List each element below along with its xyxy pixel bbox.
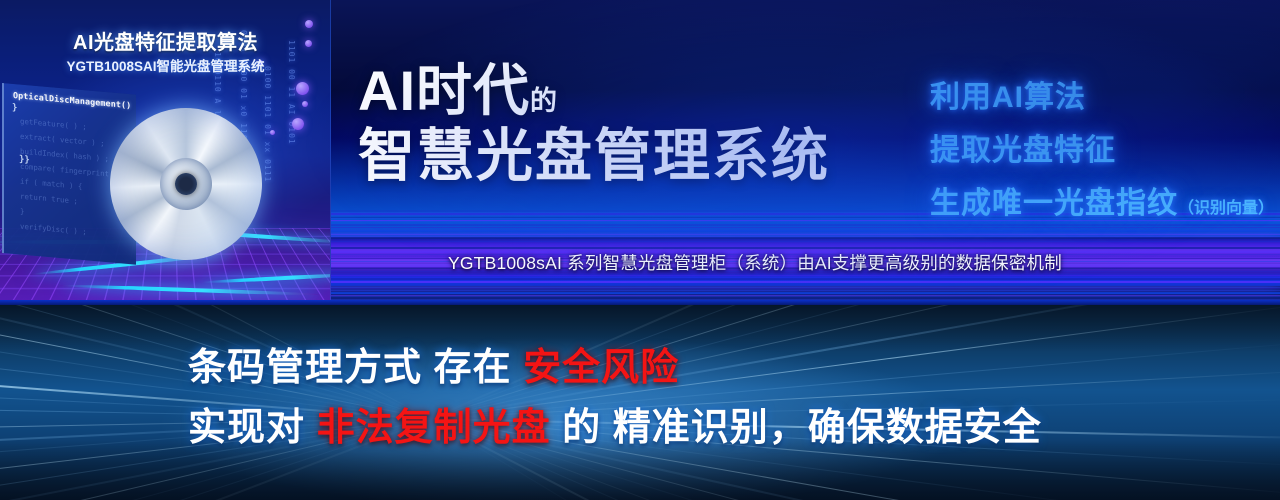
feature-item-3-tag: （识别向量） [1178,200,1274,217]
headline-line-1-suffix: 的 [530,86,557,116]
code-dim-line: verifyDisc( ) ; [20,222,87,237]
code-dim-line: buildIndex( hash ) ; [20,147,109,164]
feature-item-2-text: 提取光盘特征 [930,134,1116,167]
panel-subtitle: YGTB1008SAI智能光盘管理系统 [0,55,331,75]
main-headline: AI时代的 智慧光盘管理系统 [358,62,918,185]
code-dim-line: getFeature( ) ; [20,117,87,132]
product-image-panel: 1010110 A loi01l 1100xx0101 1100 01 x0 1… [0,0,331,300]
code-brace-1: } [12,103,17,113]
bottom-line-2-suffix: 的 精准识别，确保数据安全 [551,407,1042,449]
code-window-label: OpticalDiscManagement() [13,90,131,110]
headline-line-1-main: AI时代 [358,59,530,122]
bottom-line-2-prefix: 实现对 [188,407,317,449]
glow-dot [270,130,275,135]
feature-item-1: 利用AI算法 [930,72,1280,116]
bottom-line-1-highlight: 安全风险 [523,347,679,389]
headline-line-1: AI时代的 [358,62,918,119]
feature-item-3-text: 生成唯一光盘指纹 [930,187,1178,220]
glow-dot [292,118,304,130]
bottom-line-2: 实现对 非法复制光盘 的 精准识别，确保数据安全 [188,396,1042,451]
code-dim-line: return true ; [20,192,78,206]
bottom-line-1: 条码管理方式 存在 安全风险 [188,336,679,391]
code-dim-line: } [20,207,24,216]
bottom-line-1-text: 条码管理方式 存在 [188,347,523,389]
code-dim-line: if ( match ) { [20,177,82,191]
feature-list: 利用AI算法 提取光盘特征 生成唯一光盘指纹（识别向量） [930,72,1280,231]
band-subtitle: YGTB1008sAI 系列智慧光盘管理柜（系统）由AI支撑更高级别的数据保密机… [448,250,1248,275]
promotional-banner: AI时代的 智慧光盘管理系统 利用AI算法 提取光盘特征 生成唯一光盘指纹（识别… [0,0,1280,500]
feature-item-3: 生成唯一光盘指纹（识别向量） [930,178,1280,222]
feature-item-1-text: 利用AI算法 [930,81,1086,114]
code-dim-line: extract( vector ) ; [20,132,105,148]
glow-dot [302,101,308,107]
top-section: AI时代的 智慧光盘管理系统 利用AI算法 提取光盘特征 生成唯一光盘指纹（识别… [0,0,1280,300]
glow-dot [296,82,309,95]
binary-column: 0100 1101 01 xx 0111 [263,66,272,182]
bottom-line-2-highlight: 非法复制光盘 [317,407,551,449]
headline-line-2: 智慧光盘管理系统 [358,127,918,185]
panel-title: AI光盘特征提取算法 [0,26,331,55]
feature-item-2: 提取光盘特征 [930,125,1280,169]
bottom-section-top-edge [0,300,1280,305]
